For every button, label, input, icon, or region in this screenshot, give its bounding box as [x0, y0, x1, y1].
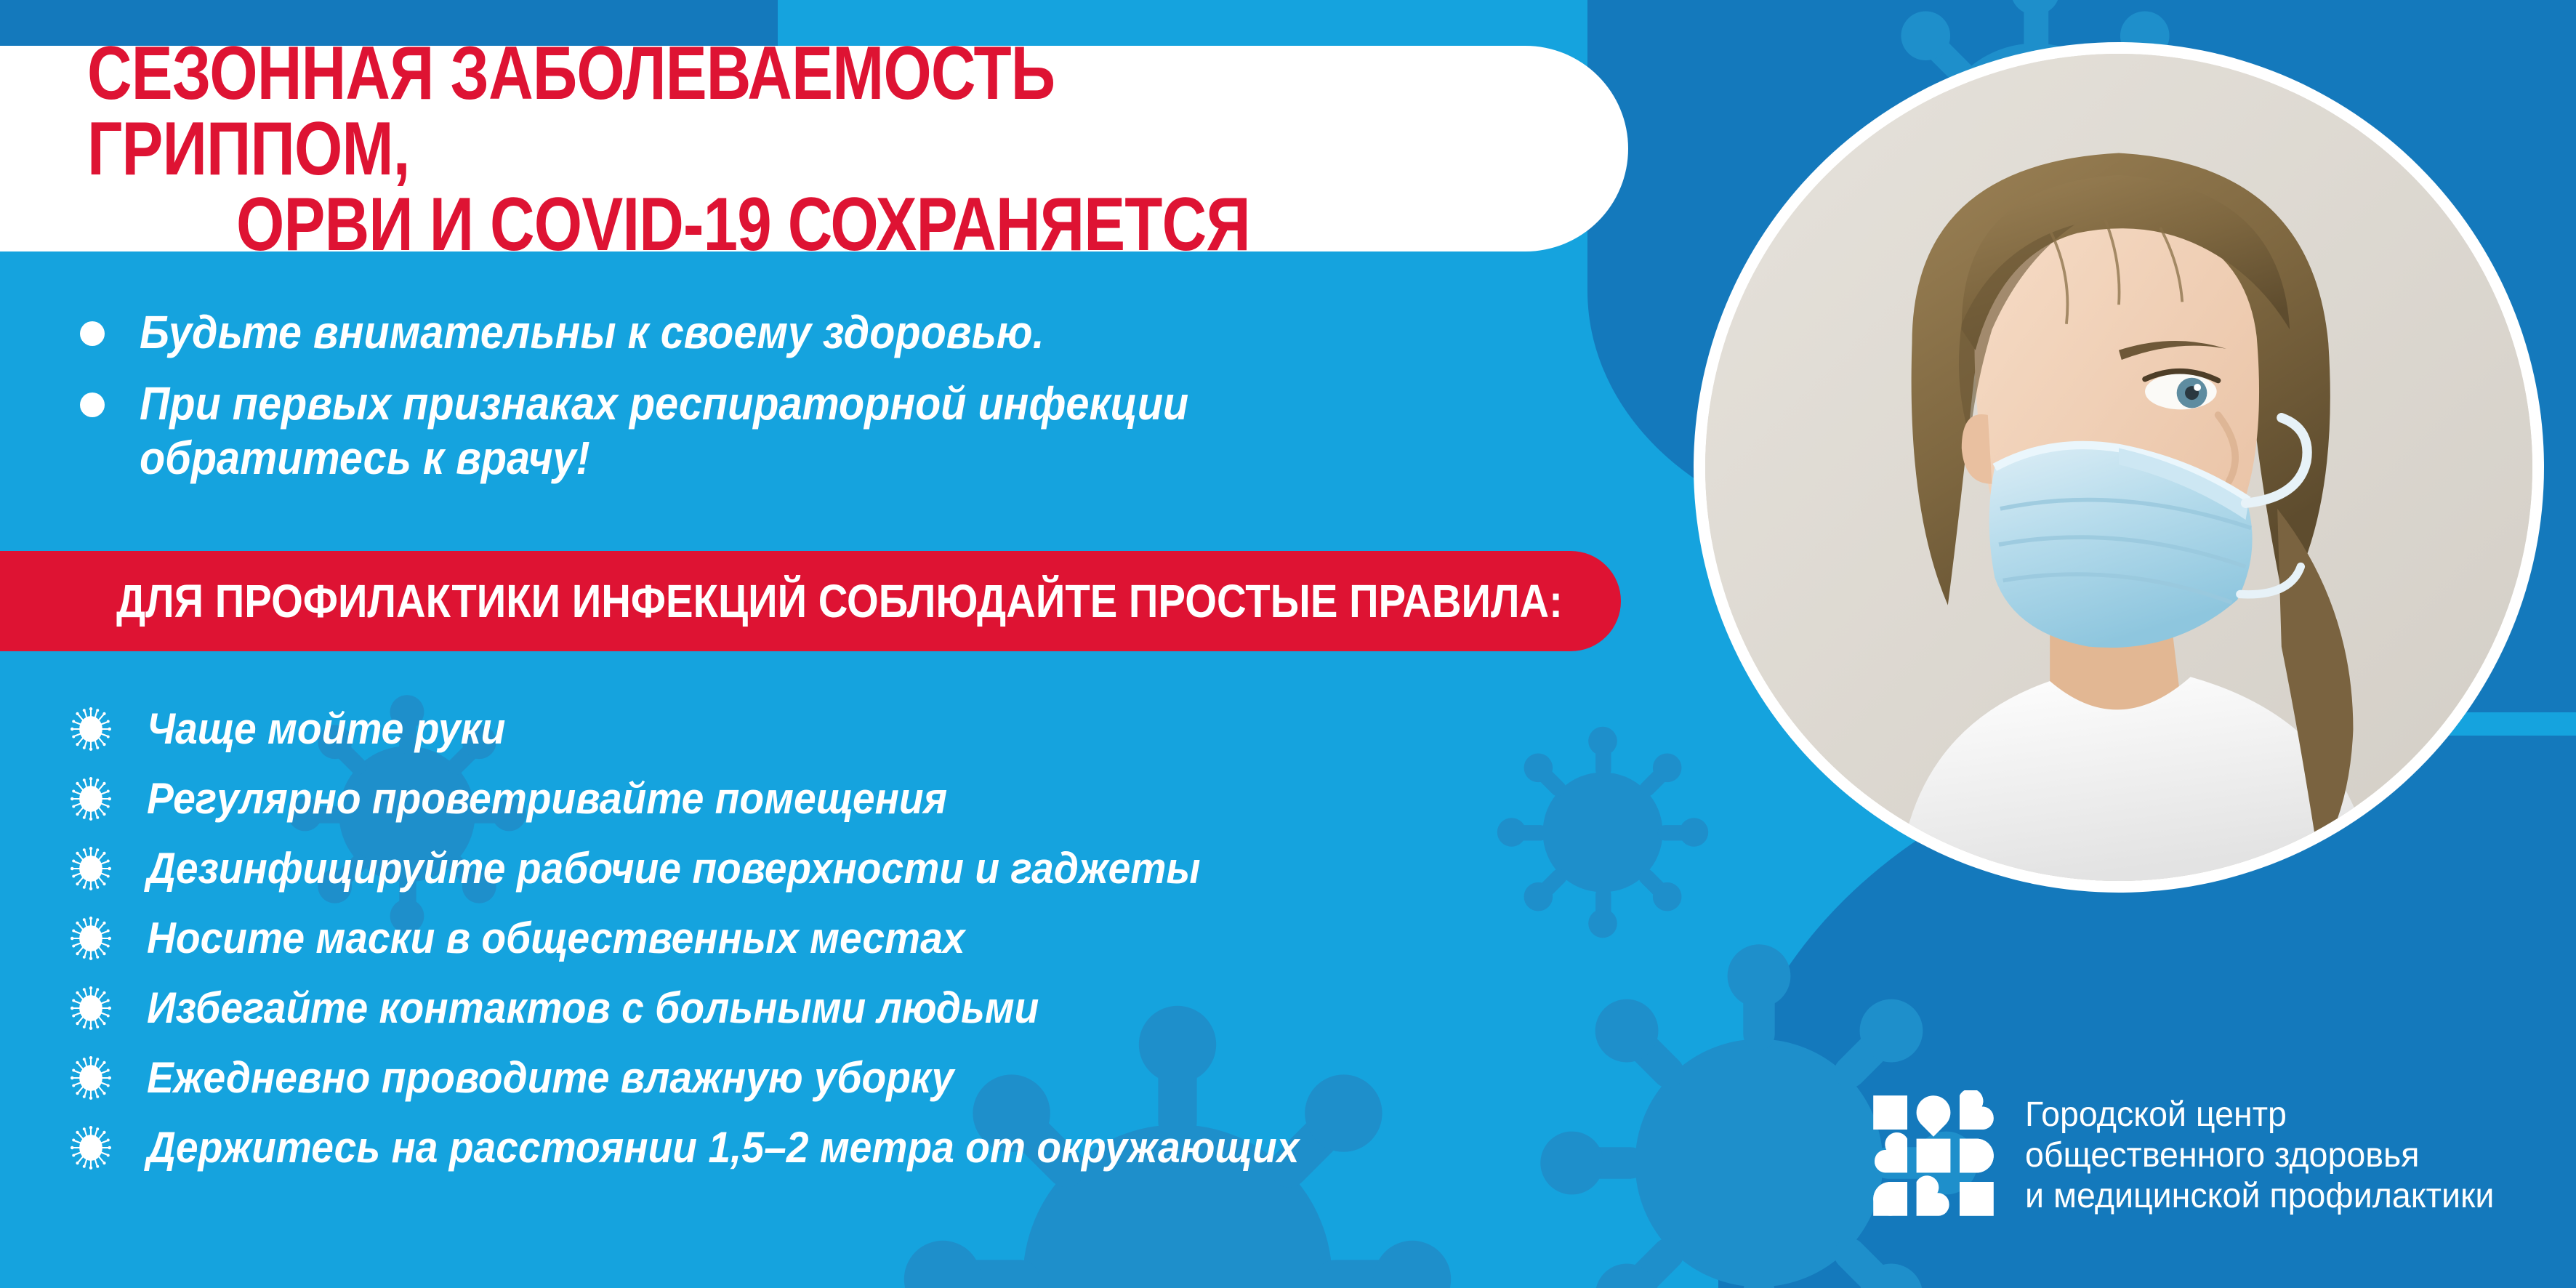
list-item: Носите маски в общественных местах [67, 903, 1666, 973]
intro-bullet-label: Будьте внимательны к своему здоровью. [140, 305, 1045, 361]
rule-label: Дезинфицируйте рабочие поверхности и гад… [147, 847, 1201, 890]
list-item: Регулярно проветривайте помещения [67, 764, 1666, 834]
rules-list: Чаще мойте руки [67, 694, 1666, 1183]
list-item: Избегайте контактов с больными людьми [67, 973, 1666, 1043]
organization-name: Городской центр общественного здоровья и… [2025, 1095, 2494, 1216]
rule-label: Ежедневно проводите влажную уборку [147, 1056, 954, 1100]
virus-icon [67, 705, 115, 753]
virus-icon [67, 1054, 115, 1102]
virus-icon [67, 914, 115, 962]
rule-label: Чаще мойте руки [147, 707, 505, 751]
list-item: Держитесь на расстоянии 1,5–2 метра от о… [67, 1113, 1666, 1183]
virus-icon [67, 984, 115, 1032]
list-item: Чаще мойте руки [67, 694, 1666, 764]
page-title: СЕЗОННАЯ ЗАБОЛЕВАЕМОСТЬ ГРИППОМ, ОРВИ И … [87, 0, 1351, 338]
rule-label: Избегайте контактов с больными людьми [147, 986, 1039, 1030]
virus-icon [67, 775, 115, 823]
intro-bullet-list: Будьте внимательны к своему здоровью. Пр… [80, 305, 1606, 502]
list-item: Ежедневно проводите влажную уборку [67, 1043, 1666, 1113]
virus-icon [67, 845, 115, 893]
portrait-photo-frame [1694, 42, 2544, 893]
page-title-line-1: СЕЗОННАЯ ЗАБОЛЕВАЕМОСТЬ ГРИППОМ, [87, 31, 1055, 191]
dot-bullet-icon [80, 321, 105, 346]
rule-label: Держитесь на расстоянии 1,5–2 метра от о… [147, 1126, 1299, 1170]
portrait-photo [1705, 54, 2532, 881]
list-item: Будьте внимательны к своему здоровью. [80, 305, 1606, 361]
virus-icon [67, 1124, 115, 1172]
poster-canvas: СЕЗОННАЯ ЗАБОЛЕВАЕМОСТЬ ГРИППОМ, ОРВИ И … [0, 0, 2576, 1288]
dot-bullet-icon [80, 393, 105, 417]
rule-label: Носите маски в общественных местах [147, 917, 965, 960]
page-title-line-2: ОРВИ И COVID-19 СОХРАНЯЕТСЯ [236, 187, 1351, 262]
list-item: Дезинфицируйте рабочие поверхности и гад… [67, 834, 1666, 903]
title-card: СЕЗОННАЯ ЗАБОЛЕВАЕМОСТЬ ГРИППОМ, ОРВИ И … [0, 46, 1628, 251]
organization-logo: Городской центр общественного здоровья и… [1868, 1090, 2508, 1221]
rule-label: Регулярно проветривайте помещения [147, 777, 947, 821]
list-item: При первых признаках респираторной инфек… [80, 377, 1606, 486]
intro-bullet-label: При первых признаках респираторной инфек… [140, 377, 1188, 486]
prevention-banner-label: ДЛЯ ПРОФИЛАКТИКИ ИНФЕКЦИЙ СОБЛЮДАЙТЕ ПРО… [116, 574, 1563, 628]
prevention-banner: ДЛЯ ПРОФИЛАКТИКИ ИНФЕКЦИЙ СОБЛЮДАЙТЕ ПРО… [0, 551, 1621, 651]
nine-shapes-grid-logo-icon [1868, 1090, 1999, 1221]
